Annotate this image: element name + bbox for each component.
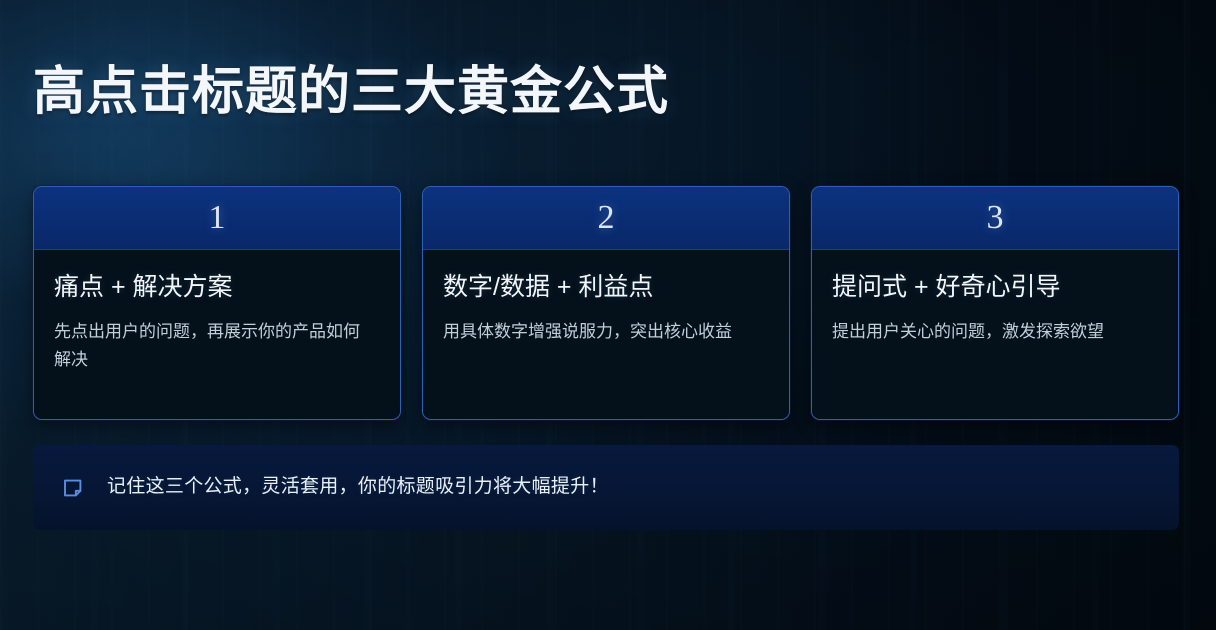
- card-header-2: 2: [423, 187, 789, 250]
- card-body-2: 数字/数据 + 利益点 用具体数字增强说服力，突出核心收益: [423, 250, 789, 419]
- card-header-3: 3: [812, 187, 1178, 250]
- formula-card-3[interactable]: 3 提问式 + 好奇心引导 提出用户关心的问题，激发探索欲望: [811, 186, 1179, 420]
- slide-root: 高点击标题的三大黄金公式 1 痛点 + 解决方案 先点出用户的问题，再展示你的产…: [0, 0, 1216, 630]
- page-title: 高点击标题的三大黄金公式: [33, 63, 669, 123]
- card-number-1: 1: [209, 201, 226, 235]
- formula-card-2[interactable]: 2 数字/数据 + 利益点 用具体数字增强说服力，突出核心收益: [422, 186, 790, 420]
- card-body-3: 提问式 + 好奇心引导 提出用户关心的问题，激发探索欲望: [812, 250, 1178, 419]
- card-heading-1: 痛点 + 解决方案: [54, 272, 380, 302]
- card-header-1: 1: [34, 187, 400, 250]
- card-description-1: 先点出用户的问题，再展示你的产品如何解决: [54, 318, 369, 373]
- card-description-3: 提出用户关心的问题，激发探索欲望: [832, 318, 1147, 346]
- summary-banner: 记住这三个公式，灵活套用，你的标题吸引力将大幅提升！: [33, 445, 1179, 530]
- card-number-2: 2: [598, 201, 615, 235]
- card-heading-3: 提问式 + 好奇心引导: [832, 272, 1158, 302]
- card-heading-2: 数字/数据 + 利益点: [443, 272, 769, 302]
- card-number-3: 3: [987, 201, 1004, 235]
- summary-banner-text: 记住这三个公式，灵活套用，你的标题吸引力将大幅提升！: [107, 474, 609, 501]
- sticky-note-icon: [61, 476, 85, 500]
- formula-card-list: 1 痛点 + 解决方案 先点出用户的问题，再展示你的产品如何解决 2 数字/数据…: [33, 186, 1179, 420]
- formula-card-1[interactable]: 1 痛点 + 解决方案 先点出用户的问题，再展示你的产品如何解决: [33, 186, 401, 420]
- card-body-1: 痛点 + 解决方案 先点出用户的问题，再展示你的产品如何解决: [34, 250, 400, 419]
- card-description-2: 用具体数字增强说服力，突出核心收益: [443, 318, 758, 346]
